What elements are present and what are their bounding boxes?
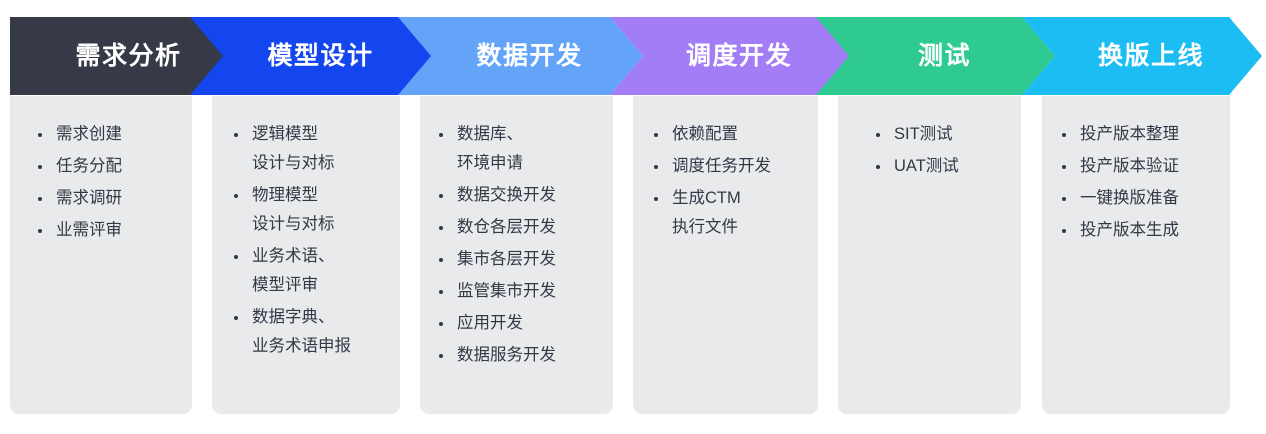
stage-task-item: SIT测试 (870, 120, 1011, 149)
stage-task-item: 应用开发 (433, 309, 603, 338)
stage-header-model-design[interactable]: 模型设计 (190, 17, 433, 95)
stage-task-item: 生成CTM 执行文件 (648, 184, 808, 242)
stage-task-item: 数据交换开发 (433, 181, 603, 210)
stage-task-item: 逻辑模型 设计与对标 (228, 120, 390, 178)
stage-task-item: 投产版本生成 (1056, 216, 1220, 245)
stage-task-list: 投产版本整理投产版本验证一键换版准备投产版本生成 (1056, 120, 1220, 245)
stage-header-testing[interactable]: 测试 (816, 17, 1055, 95)
stage-task-item: UAT测试 (870, 152, 1011, 181)
stage-panel-data-development: 数据库、 环境申请数据交换开发数仓各层开发集市各层开发监管集市开发应用开发数据服… (420, 96, 613, 414)
stage-task-item: 数据字典、 业务术语申报 (228, 303, 390, 361)
stage-panel-scheduling-development: 依赖配置调度任务开发生成CTM 执行文件 (633, 96, 818, 414)
stage-task-item: 数仓各层开发 (433, 213, 603, 242)
stage-task-item: 依赖配置 (648, 120, 808, 149)
stage-title-label: 模型设计 (267, 44, 373, 69)
stage-title-label: 需求分析 (75, 44, 181, 69)
stage-panel-testing: SIT测试UAT测试 (838, 96, 1021, 414)
stage-task-list: 数据库、 环境申请数据交换开发数仓各层开发集市各层开发监管集市开发应用开发数据服… (433, 120, 603, 370)
stage-panel-model-design: 逻辑模型 设计与对标物理模型 设计与对标业务术语、 模型评审数据字典、 业务术语… (212, 96, 400, 414)
stage-task-item: 业务术语、 模型评审 (228, 242, 390, 300)
stage-task-item: 一键换版准备 (1056, 184, 1220, 213)
stage-task-list: 逻辑模型 设计与对标物理模型 设计与对标业务术语、 模型评审数据字典、 业务术语… (228, 120, 390, 361)
stage-task-item: 监管集市开发 (433, 277, 603, 306)
stage-task-item: 集市各层开发 (433, 245, 603, 274)
stage-title-label: 调度开发 (686, 44, 792, 69)
stage-task-list: SIT测试UAT测试 (870, 120, 1011, 181)
stage-title-label: 数据开发 (476, 44, 582, 69)
stage-task-list: 依赖配置调度任务开发生成CTM 执行文件 (648, 120, 808, 242)
stage-header-release-golive[interactable]: 换版上线 (1022, 17, 1262, 95)
process-flow-diagram: 需求分析需求创建任务分配需求调研业需评审模型设计逻辑模型 设计与对标物理模型 设… (0, 0, 1266, 434)
process-stage-release-golive[interactable]: 换版上线投产版本整理投产版本验证一键换版准备投产版本生成 (1042, 0, 1266, 434)
stage-task-item: 物理模型 设计与对标 (228, 181, 390, 239)
stage-title-label: 测试 (918, 44, 971, 69)
stage-task-item: 数据服务开发 (433, 341, 603, 370)
stage-task-item: 业需评审 (32, 216, 182, 245)
stage-header-data-development[interactable]: 数据开发 (398, 17, 643, 95)
stage-task-item: 投产版本验证 (1056, 152, 1220, 181)
stage-task-item: 投产版本整理 (1056, 120, 1220, 149)
stage-task-item: 需求调研 (32, 184, 182, 213)
stage-task-item: 需求创建 (32, 120, 182, 149)
stage-panel-release-golive: 投产版本整理投产版本验证一键换版准备投产版本生成 (1042, 96, 1230, 414)
stage-title-label: 换版上线 (1098, 44, 1204, 69)
stage-header-scheduling-development[interactable]: 调度开发 (610, 17, 850, 95)
stage-task-item: 数据库、 环境申请 (433, 120, 603, 178)
stage-panel-requirements-analysis: 需求创建任务分配需求调研业需评审 (10, 96, 192, 414)
stage-task-item: 任务分配 (32, 152, 182, 181)
stage-task-list: 需求创建任务分配需求调研业需评审 (32, 120, 182, 245)
stage-task-item: 调度任务开发 (648, 152, 808, 181)
